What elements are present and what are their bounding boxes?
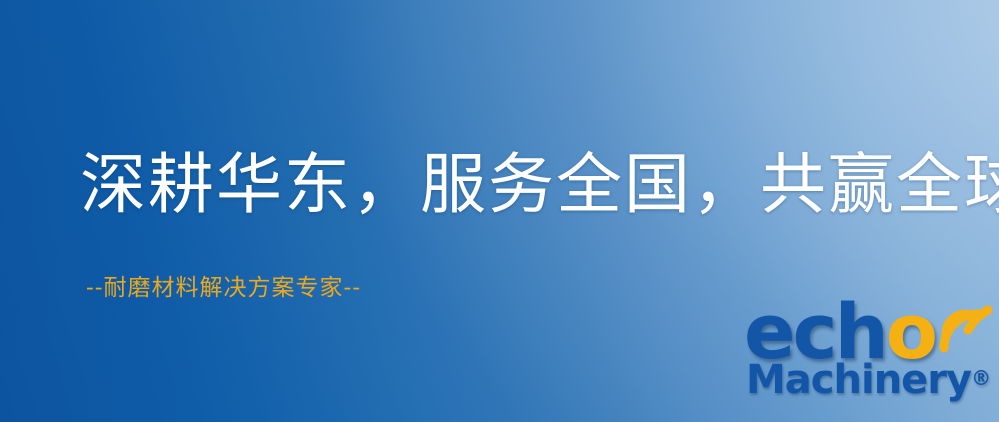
logo-machinery-text: Machinery® xyxy=(746,360,991,400)
registered-trademark-icon: ® xyxy=(971,366,991,390)
banner-headline: 深耕华东，服务全国，共赢全球 xyxy=(80,152,999,218)
logo-tagline: Machinery xyxy=(746,357,971,403)
banner-subtitle: --耐磨材料解决方案专家-- xyxy=(86,268,361,302)
promo-banner: 深耕华东，服务全国，共赢全球 --耐磨材料解决方案专家-- echo Machi… xyxy=(0,0,999,422)
signal-arcs-icon xyxy=(924,294,994,356)
echo-machinery-logo: echo Machinery® xyxy=(742,298,994,418)
